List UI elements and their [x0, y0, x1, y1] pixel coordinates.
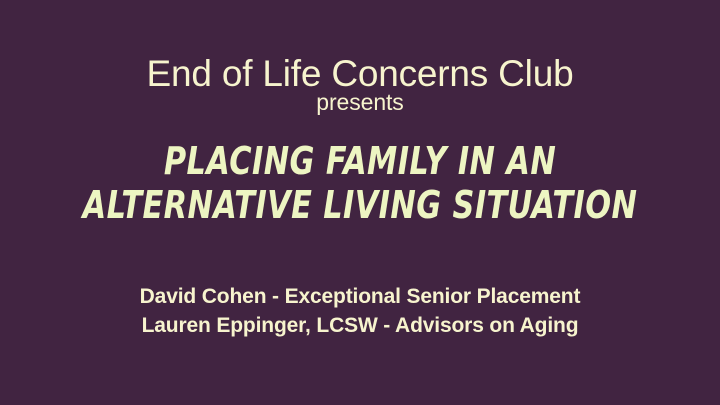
presenter-list: David Cohen - Exceptional Senior Placeme… [0, 286, 720, 336]
title-line-2: ALTERNATIVE LIVING SITUATION [72, 186, 648, 224]
presentation-title: PLACING FAMILY IN AN ALTERNATIVE LIVING … [0, 142, 720, 224]
title-slide: End of Life Concerns Club presents PLACI… [0, 0, 720, 405]
club-name: End of Life Concerns Club [0, 55, 720, 92]
presenter-item: David Cohen - Exceptional Senior Placeme… [0, 286, 720, 307]
presenter-item: Lauren Eppinger, LCSW - Advisors on Agin… [0, 315, 720, 336]
title-line-1: PLACING FAMILY IN AN [72, 142, 648, 180]
presents-label: presents [0, 91, 720, 114]
